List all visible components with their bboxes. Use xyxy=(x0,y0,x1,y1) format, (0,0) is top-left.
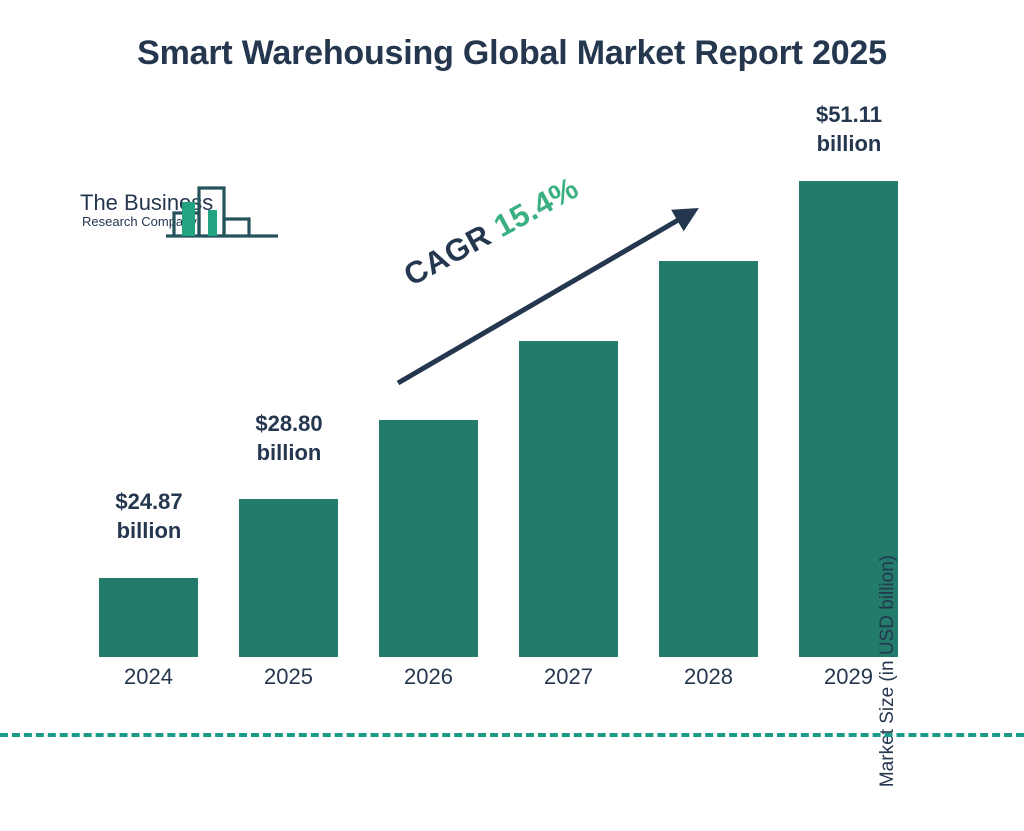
cagr-arrow-icon xyxy=(0,0,1024,768)
chart-canvas: Smart Warehousing Global Market Report 2… xyxy=(0,0,1024,768)
footer-divider xyxy=(0,733,1024,737)
y-axis-title-wrapper: Market Size (in USD billion) xyxy=(920,330,956,660)
y-axis-title: Market Size (in USD billion) xyxy=(877,511,899,831)
